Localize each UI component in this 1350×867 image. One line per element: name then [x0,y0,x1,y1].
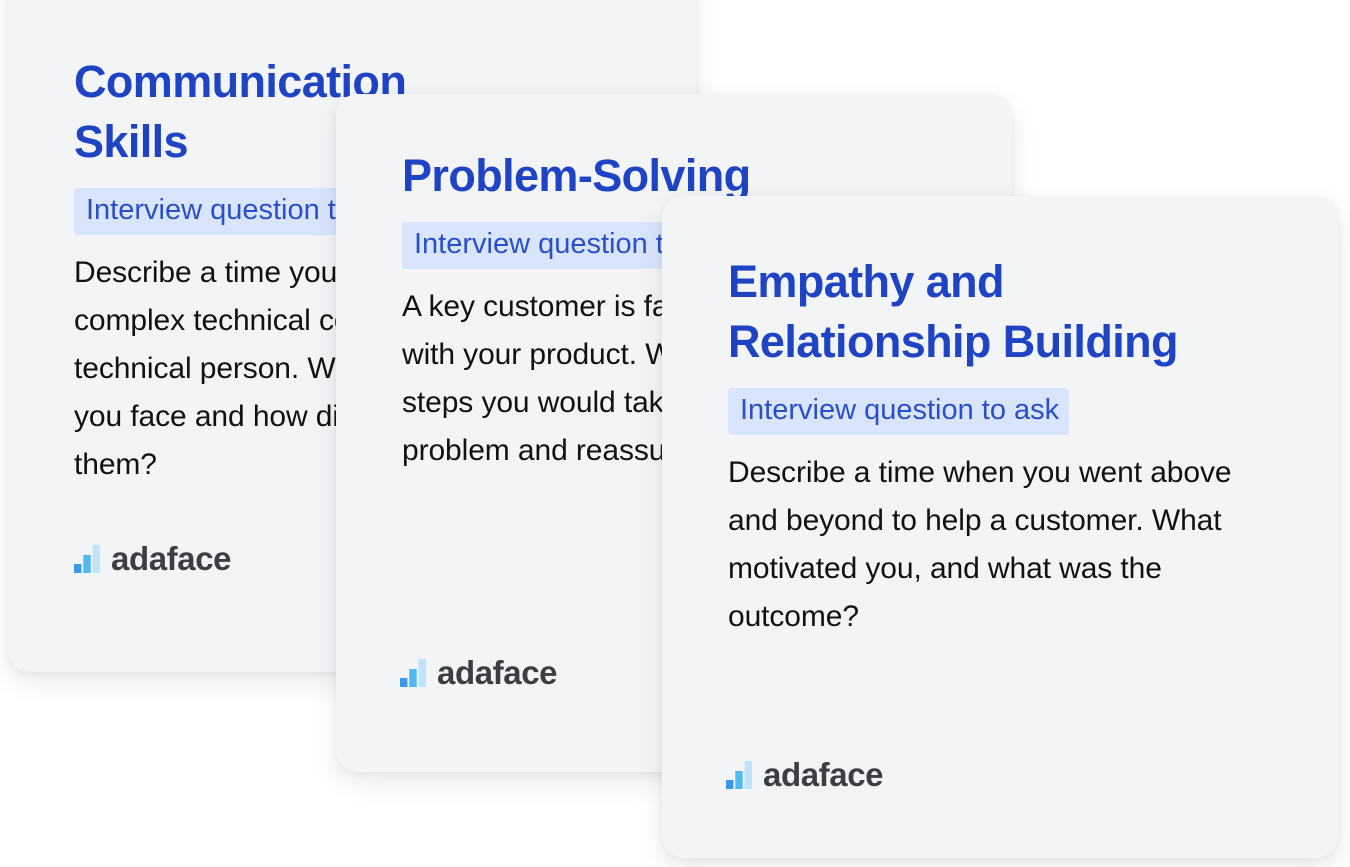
logo-slot: adaface [726,756,883,789]
adaface-wordmark: adaface [763,758,883,791]
adaface-logo: adaface [74,540,231,573]
interview-question-badge: Interview question to ask [728,388,1069,435]
adaface-logo: adaface [400,654,557,687]
card-empathy-relationship-building[interactable]: Empathy and Relationship Building Interv… [662,196,1338,858]
adaface-wordmark: adaface [437,656,557,689]
card-content: Empathy and Relationship Building Interv… [662,196,1322,681]
adaface-wordmark: adaface [111,542,231,575]
bar-chart-logo-icon [74,545,100,573]
adaface-logo: adaface [726,756,883,789]
bar-chart-logo-icon [400,659,426,687]
logo-slot: adaface [400,654,557,687]
card-stack: Communication Skills Interview question … [0,0,1350,867]
badge-row: Interview question to ask [728,388,1262,435]
bar-chart-logo-icon [726,761,752,789]
interview-question-text: Describe a time when you went above and … [728,449,1262,641]
card-title: Empathy and Relationship Building [728,252,1262,372]
logo-slot: adaface [74,540,231,573]
